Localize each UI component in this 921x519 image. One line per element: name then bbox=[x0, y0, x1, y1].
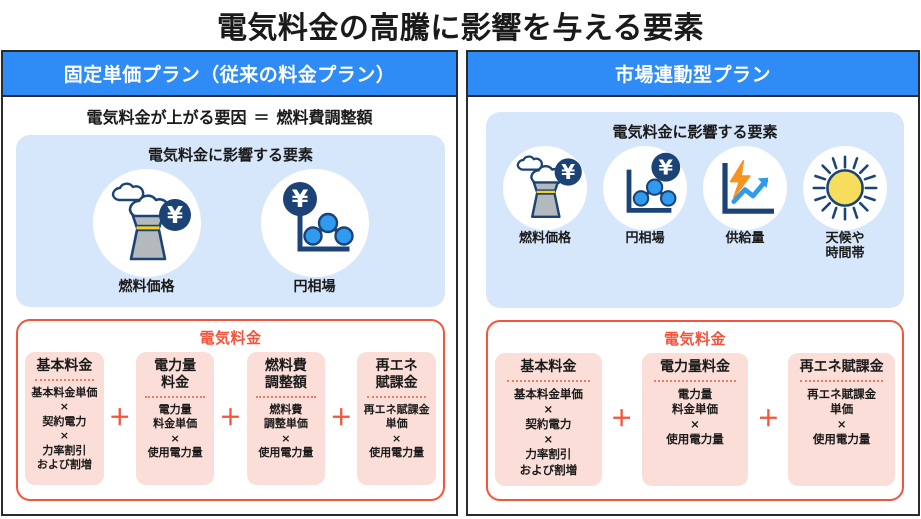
factors-icon-row-left: ¥ 燃料価格 bbox=[16, 169, 445, 295]
factor-label-fuel-price-left: 燃料価格 bbox=[119, 279, 175, 295]
bill-term-body: 燃料費調整単価×使用電力量 bbox=[258, 403, 313, 461]
bill-term-body: 再エネ賦課金単価×使用電力量 bbox=[364, 403, 430, 461]
bill-term: 燃料費調整額 燃料費調整単価×使用電力量 bbox=[247, 352, 326, 485]
factor-item-yen-rate-left: ¥ 円相場 bbox=[231, 169, 399, 295]
factor-item-yen-rate-right: ¥ 円相場 bbox=[595, 146, 695, 247]
factor-item-fuel-price-left: ¥ 燃料価格 bbox=[63, 169, 231, 295]
bill-terms-row-right: 基本料金 基本料金単価×契約電力×力率割引および割増 ＋ 電力量料金 電力量料金… bbox=[488, 353, 902, 486]
factor-item-supply-right: 供給量 bbox=[695, 146, 795, 247]
factor-item-fuel-price-right: ¥ 燃料価格 bbox=[495, 146, 595, 247]
yen-chart-icon: ¥ bbox=[603, 146, 687, 230]
bill-term: 基本料金 基本料金単価×契約電力×力率割引および割増 bbox=[25, 352, 104, 485]
bill-term-body: 電力量料金単価×使用電力量 bbox=[666, 387, 724, 448]
panel-header-left: 固定単価プラン（従来の料金プラン） bbox=[3, 52, 456, 97]
bill-term-body: 電力量料金単価×使用電力量 bbox=[148, 403, 203, 461]
panel-header-left-label: 固定単価プラン（従来の料金プラン） bbox=[64, 60, 396, 87]
lightning-chart-icon bbox=[703, 146, 787, 230]
bill-term-head: 基本料金 bbox=[520, 359, 576, 376]
bill-term-head: 電力量料金 bbox=[154, 358, 196, 392]
divider bbox=[145, 396, 205, 398]
bill-term: 再エネ賦課金 再エネ賦課金単価×使用電力量 bbox=[788, 353, 895, 486]
bill-term-body: 再エネ賦課金単価×使用電力量 bbox=[807, 387, 876, 448]
plus-sign: ＋ bbox=[602, 409, 642, 431]
equation-left-term: 電気料金が上がる要因 bbox=[86, 108, 246, 127]
bill-term-head: 再エネ賦課金 bbox=[376, 358, 418, 392]
divider bbox=[256, 396, 316, 398]
divider bbox=[35, 379, 95, 381]
factors-icon-row-right: ¥ 燃料価格 ¥ bbox=[486, 146, 904, 262]
factor-item-weather-right: 天候や時間帯 bbox=[795, 146, 895, 262]
bill-term-body: 基本料金単価×契約電力×力率割引および割増 bbox=[514, 387, 583, 478]
bill-term-head: 再エネ賦課金 bbox=[800, 359, 884, 376]
factory-yen-icon: ¥ bbox=[503, 146, 587, 230]
panel-fixed-price-plan: 固定単価プラン（従来の料金プラン） 電気料金が上がる要因＝燃料費調整額 電気料金… bbox=[1, 50, 458, 516]
bill-term-head: 燃料費調整額 bbox=[265, 358, 307, 392]
bill-term-head: 電力量料金 bbox=[660, 359, 730, 376]
equation-right-term: 燃料費調整額 bbox=[277, 108, 373, 127]
bill-box-left: 電気料金 基本料金 基本料金単価×契約電力×力率割引および割増 ＋ 電力量料金 … bbox=[16, 319, 445, 501]
infographic-root: 電気料金の高騰に影響を与える要素 固定単価プラン（従来の料金プラン） 電気料金が… bbox=[0, 0, 921, 519]
bill-term: 電力量料金 電力量料金単価×使用電力量 bbox=[136, 352, 215, 485]
factors-title-left: 電気料金に影響する要素 bbox=[16, 135, 445, 165]
bill-term: 電力量料金 電力量料金単価×使用電力量 bbox=[642, 353, 749, 486]
plus-sign: ＋ bbox=[748, 409, 788, 431]
factory-yen-icon: ¥ bbox=[93, 169, 201, 277]
factors-box-left: 電気料金に影響する要素 bbox=[16, 135, 445, 307]
page-title: 電気料金の高騰に影響を与える要素 bbox=[0, 2, 921, 48]
factor-label-weather-right: 天候や時間帯 bbox=[825, 232, 864, 262]
svg-text:¥: ¥ bbox=[166, 203, 182, 229]
factor-label-yen-rate-left: 円相場 bbox=[294, 279, 336, 295]
equation-line: 電気料金が上がる要因＝燃料費調整額 bbox=[3, 104, 456, 128]
svg-text:¥: ¥ bbox=[659, 155, 674, 179]
svg-text:¥: ¥ bbox=[291, 185, 308, 213]
bill-terms-row-left: 基本料金 基本料金単価×契約電力×力率割引および割増 ＋ 電力量料金 電力量料金… bbox=[18, 352, 443, 485]
divider bbox=[654, 380, 737, 382]
plus-sign: ＋ bbox=[214, 408, 246, 430]
plus-sign: ＋ bbox=[325, 408, 357, 430]
panel-header-right-label: 市場連動型プラン bbox=[615, 60, 771, 87]
factors-title-right: 電気料金に影響する要素 bbox=[486, 112, 904, 142]
plus-sign: ＋ bbox=[104, 408, 136, 430]
bill-term-head: 基本料金 bbox=[36, 358, 92, 375]
factors-box-right: 電気料金に影響する要素 ¥ bbox=[486, 112, 904, 308]
divider bbox=[367, 396, 427, 398]
panel-header-right: 市場連動型プラン bbox=[468, 52, 918, 97]
divider bbox=[800, 380, 883, 382]
yen-chart-icon: ¥ bbox=[261, 169, 369, 277]
panel-market-linked-plan: 市場連動型プラン 電気料金に影響する要素 bbox=[466, 50, 920, 516]
bill-term: 基本料金 基本料金単価×契約電力×力率割引および割増 bbox=[495, 353, 602, 486]
factor-label-supply-right: 供給量 bbox=[725, 232, 764, 247]
svg-text:¥: ¥ bbox=[561, 160, 575, 184]
factor-label-yen-rate-right: 円相場 bbox=[625, 232, 664, 247]
bill-title-left: 電気料金 bbox=[18, 321, 443, 348]
bill-title-right: 電気料金 bbox=[488, 322, 902, 349]
equation-sign: ＝ bbox=[253, 108, 269, 127]
sun-icon bbox=[803, 146, 887, 230]
divider bbox=[507, 380, 590, 382]
bill-term-body: 基本料金単価×契約電力×力率割引および割増 bbox=[31, 386, 97, 473]
bill-box-right: 電気料金 基本料金 基本料金単価×契約電力×力率割引および割増 ＋ 電力量料金 … bbox=[486, 320, 904, 501]
factor-label-fuel-price-right: 燃料価格 bbox=[519, 232, 571, 247]
bill-term: 再エネ賦課金 再エネ賦課金単価×使用電力量 bbox=[357, 352, 436, 485]
